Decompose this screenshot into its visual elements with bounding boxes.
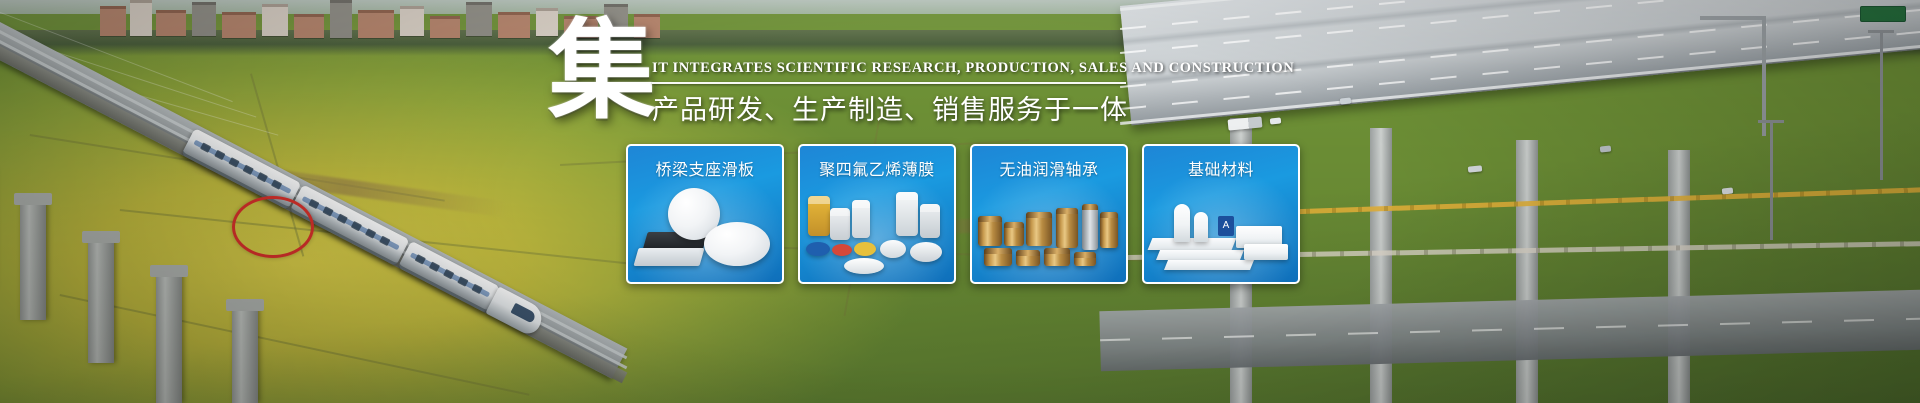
product-card-bridge-bearing-slide-plate[interactable]: 桥梁支座滑板: [626, 144, 784, 284]
hero-banner: 集 IT INTEGRATES SCIENTIFIC RESEARCH, PRO…: [0, 0, 1920, 403]
headline-block: 集 IT INTEGRATES SCIENTIFIC RESEARCH, PRO…: [548, 14, 1148, 134]
product-card-image: [972, 182, 1126, 282]
vehicle: [1600, 145, 1612, 152]
utility-pole: [1770, 120, 1773, 240]
product-card-title: 聚四氟乙烯薄膜: [800, 156, 954, 180]
product-card-ptfe-film[interactable]: 聚四氟乙烯薄膜: [798, 144, 956, 284]
headline-english: IT INTEGRATES SCIENTIFIC RESEARCH, PRODU…: [652, 60, 1152, 77]
product-card-image: [628, 182, 782, 282]
highway-sign: [1860, 6, 1906, 22]
product-card-image: A: [1144, 182, 1298, 282]
blue-label: A: [1218, 216, 1234, 236]
headline-chinese: 产品研发、生产制造、销售服务于一体: [652, 88, 1152, 127]
product-card-oilless-bearing[interactable]: 无油润滑轴承: [970, 144, 1128, 284]
sign-gantry: [1762, 16, 1766, 136]
vehicle: [1340, 97, 1352, 104]
red-ellipse-highlight: [232, 196, 314, 258]
product-card-image: [800, 182, 954, 282]
vehicle: [1270, 117, 1282, 124]
product-card-title: 无油润滑轴承: [972, 156, 1126, 180]
utility-pole: [1880, 30, 1883, 180]
product-card-list: 桥梁支座滑板 聚四氟乙烯薄膜: [626, 144, 1300, 284]
headline-divider: [652, 82, 1126, 84]
product-card-title: 桥梁支座滑板: [628, 156, 782, 180]
product-card-title: 基础材料: [1144, 156, 1298, 180]
big-character: 集: [548, 18, 656, 126]
product-card-base-material[interactable]: 基础材料 A: [1142, 144, 1300, 284]
